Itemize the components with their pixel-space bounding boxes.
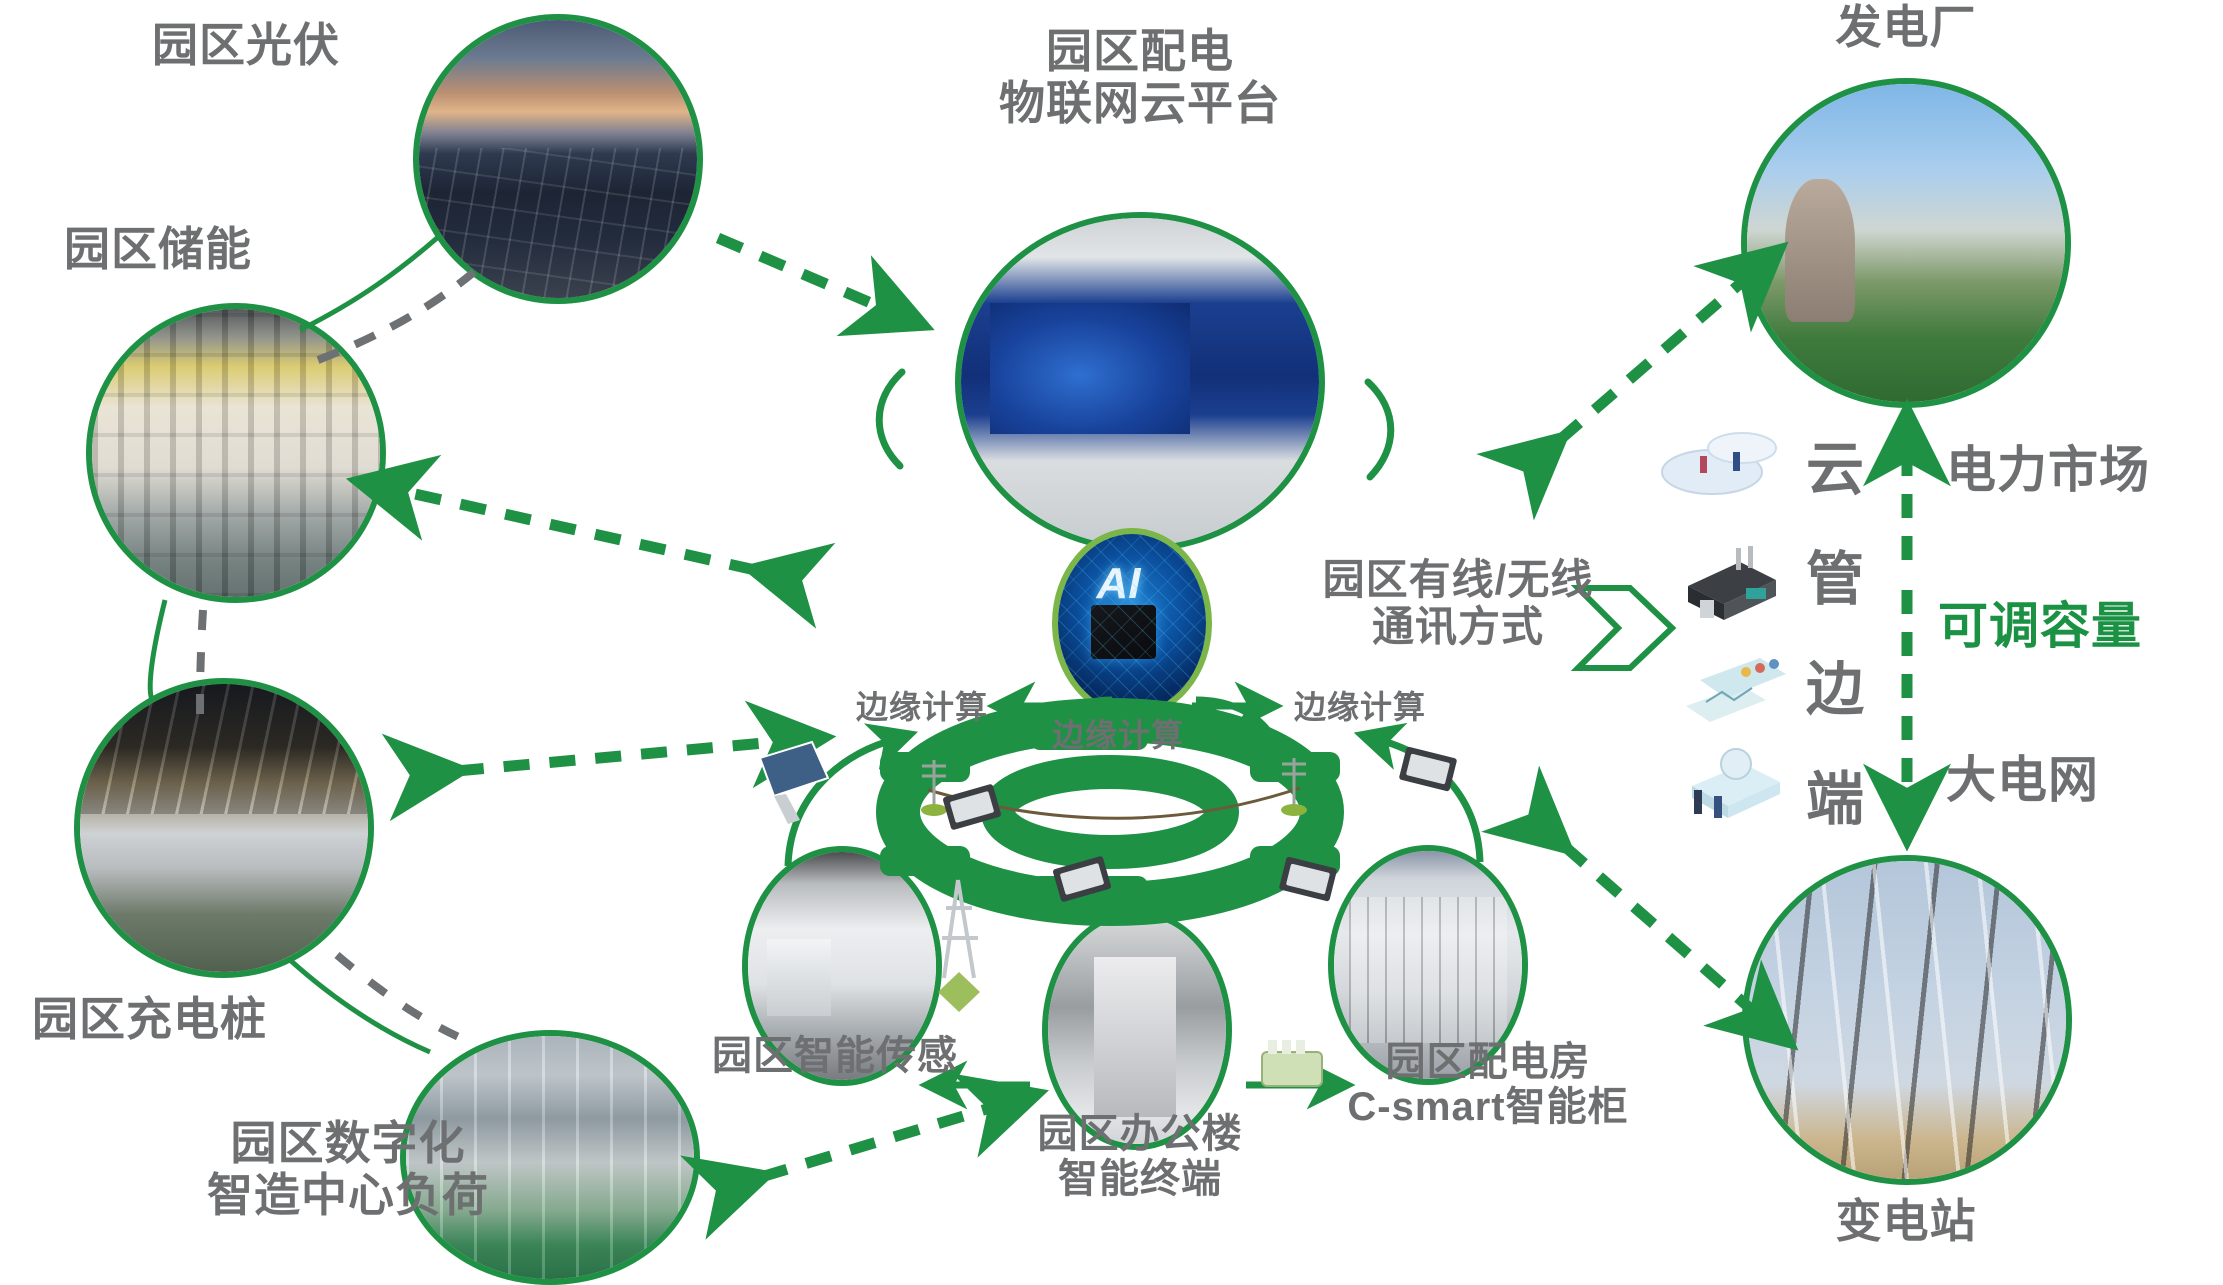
cloud-platform-photo [955,212,1325,552]
pole-right-base-icon [1281,804,1307,816]
label-digital-factory: 园区数字化 智造中心负荷 [128,1118,568,1221]
label-large-grid: 大电网 [1946,752,2099,808]
label-comm-mode: 园区有线/无线 通讯方式 [1248,556,1668,650]
label-edge-computing-left: 边缘计算 [856,690,988,726]
label-substation: 变电站 [1776,1196,2036,1248]
power-plant-photo [1741,78,2071,408]
arrow-cloud-to-powerplant [1525,282,1742,470]
gateway-device-icon [1688,546,1776,620]
label-distribution-room: 园区配电房 C-smart智能柜 [1288,1040,1688,1130]
cloud-stack-char-duan: 端 [1806,768,1865,833]
bracket-right-icon [1368,382,1391,477]
park-ess-photo [86,303,386,603]
pole-left-icon [922,760,946,806]
cloud-stack-char-bian: 边 [1806,658,1865,723]
terminal-handshake-icon [1692,749,1780,818]
cloud-people-icon [1662,433,1776,494]
diagram-canvas: AI [0,0,2223,1283]
park-ev-photo [74,678,374,978]
arrow-ev-to-center [412,742,775,775]
arrow-cloud-to-ess [406,492,800,580]
ai-text-icon: AI [1096,559,1140,609]
label-park-ess: 园区储能 [64,224,252,276]
label-electricity-market: 电力市场 [1946,442,2150,498]
arc-cabinet-to-edge-right [1386,742,1480,862]
arrow-center-to-substation [1530,816,1752,1010]
label-edge-computing-right: 边缘计算 [1294,690,1426,726]
pylon-small-icon [938,880,980,1012]
solar-panel-small-icon [760,742,828,824]
label-edge-computing-center: 边缘计算 [1052,718,1184,754]
pole-right-icon [1282,758,1306,806]
label-park-pv: 园区光伏 [152,20,340,72]
analytics-boards-icon [1686,658,1786,722]
park-pv-photo [413,14,703,304]
cloud-stack-char-yun: 云 [1806,438,1865,503]
bracket-left-icon [879,372,902,466]
overhead-line-icon [928,788,1300,818]
arrow-pv-to-cloud [718,238,878,306]
label-park-ev: 园区充电桩 [32,994,267,1046]
cloud-stack-char-guan: 管 [1806,548,1865,613]
arc-edge-center-right [1196,700,1272,736]
label-adjustable-capacity: 可调容量 [1938,598,2142,654]
label-smart-sensor: 园区智能传感 [712,1034,958,1079]
arrow-factory-to-sensor [718,1108,990,1190]
substation-photo [1742,855,2072,1185]
ai-chip-photo: AI [1052,528,1212,718]
pole-left-base-icon [921,804,947,816]
label-office-terminal: 园区办公楼 智能终端 [1000,1112,1280,1202]
label-cloud-platform: 园区配电 物联网云平台 [940,26,1340,129]
label-power-plant: 发电厂 [1776,2,2036,54]
